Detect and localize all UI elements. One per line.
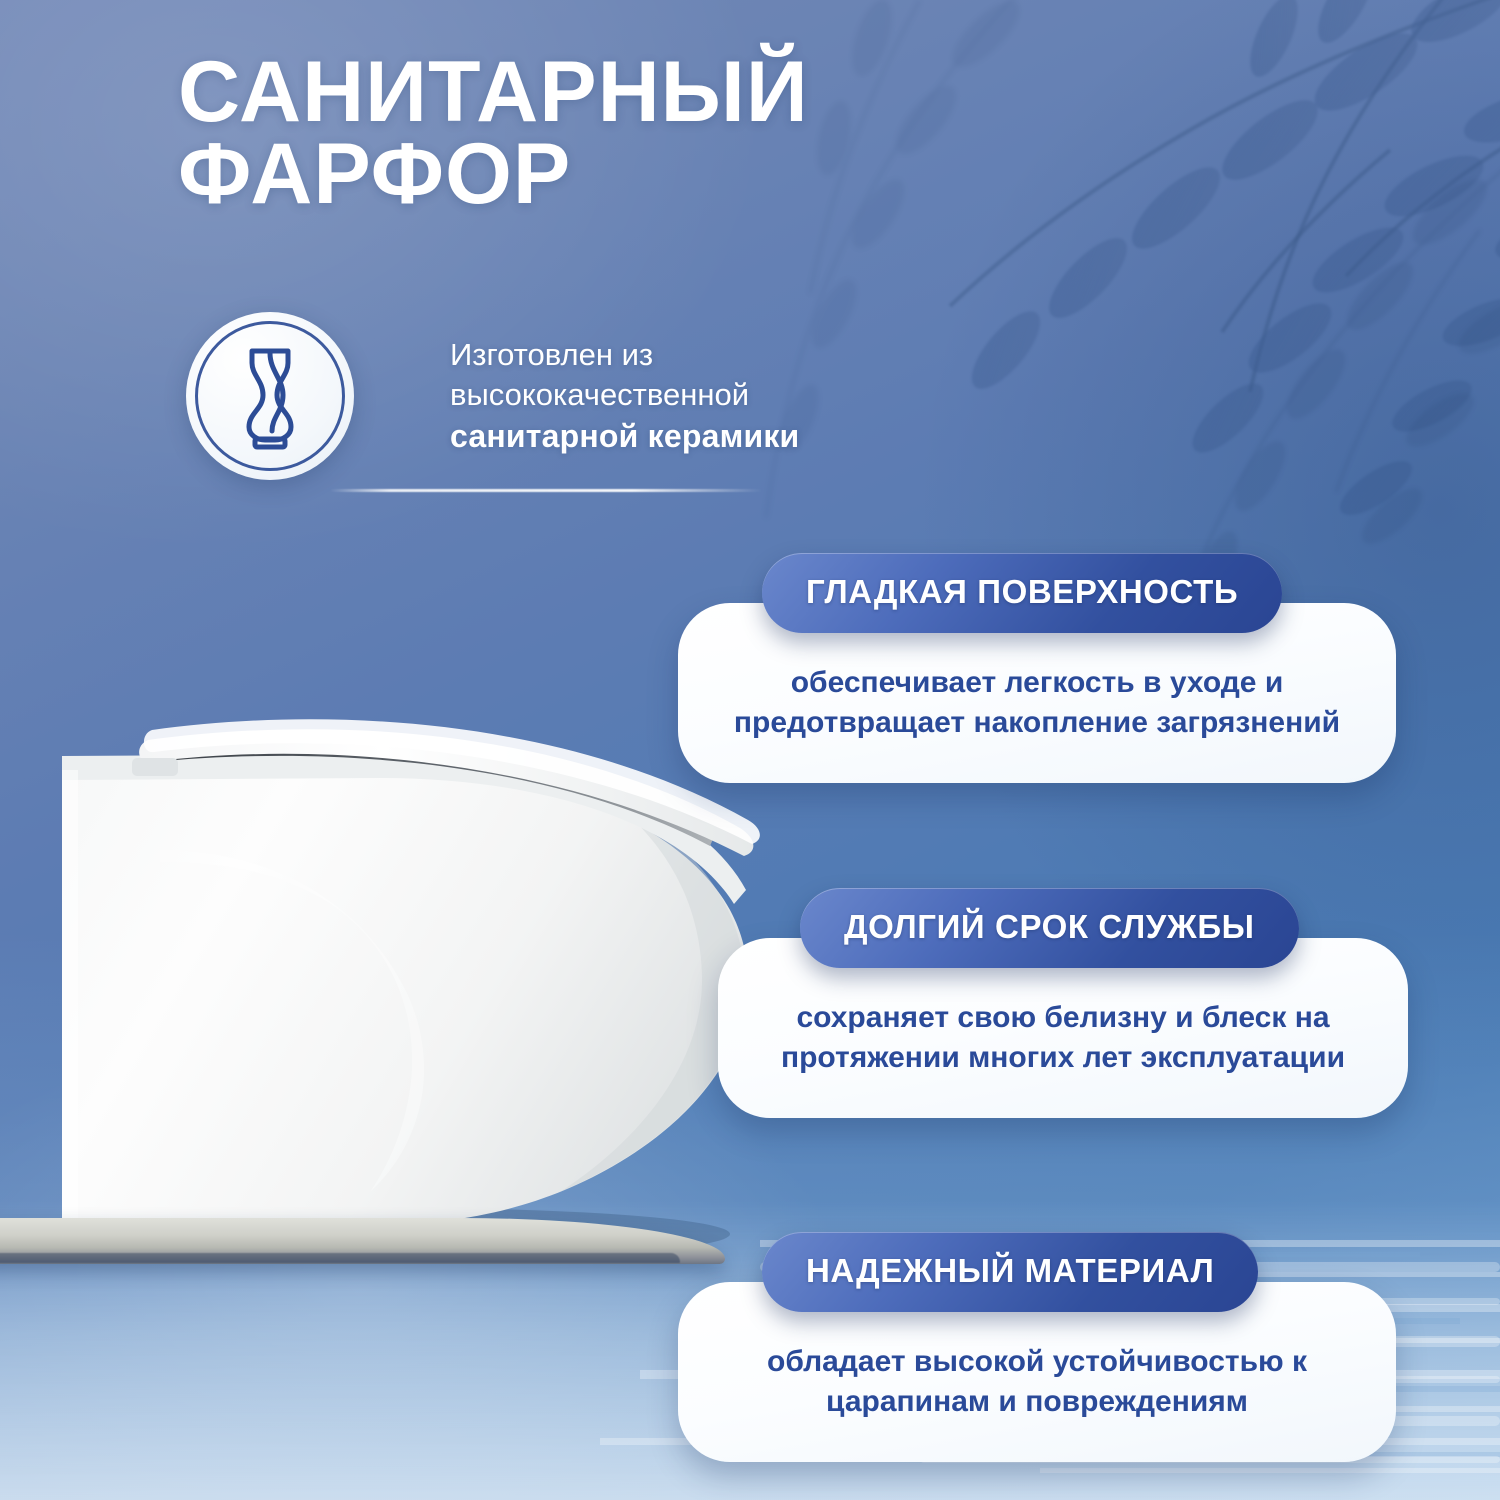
product-shelf-edge (0, 1253, 680, 1263)
title-line-2: ФАРФОР (178, 134, 1078, 216)
feature-card-title-3: НАДЕЖНЫЙ МАТЕРИАЛ (762, 1232, 1258, 1312)
vase-icon (227, 341, 313, 451)
material-badge: Изготовлен из высококачественной санитар… (186, 312, 799, 480)
vase-icon-circle (186, 312, 354, 480)
header-divider (330, 489, 762, 492)
feature-card-body-1-line-2: предотвращает накопление загрязнений (734, 706, 1340, 739)
feature-card-body-3-line-1: обладает высокой устойчивостью к (767, 1345, 1307, 1378)
material-badge-text: Изготовлен из высококачественной санитар… (450, 335, 799, 457)
infographic-canvas: САНИТАРНЫЙ ФАРФОР Изготовлен из высокока… (0, 0, 1500, 1500)
page-title: САНИТАРНЫЙ ФАРФОР (178, 52, 1078, 215)
feature-card-body-2-line-2: протяжении многих лет эксплуатации (781, 1041, 1345, 1074)
badge-text-bold: санитарной керамики (450, 416, 799, 458)
badge-text-line-1: Изготовлен из (450, 337, 653, 372)
badge-text-line-2: высококачественной (450, 377, 749, 412)
feature-card-body-2-line-1: сохраняет свою белизну и блеск на (796, 1001, 1329, 1034)
feature-card-title-1: ГЛАДКАЯ ПОВЕРХНОСТЬ (762, 553, 1282, 633)
feature-card-reliable-material[interactable]: НАДЕЖНЫЙ МАТЕРИАЛ обладает высокой устой… (678, 1232, 1396, 1462)
feature-card-smooth-surface[interactable]: ГЛАДКАЯ ПОВЕРХНОСТЬ обеспечивает легкост… (678, 553, 1396, 783)
feature-card-body-3-line-2: царапинам и повреждениям (826, 1385, 1248, 1418)
feature-card-body-1-line-1: обеспечивает легкость в уходе и (791, 666, 1284, 699)
feature-card-long-service-life[interactable]: ДОЛГИЙ СРОК СЛУЖБЫ сохраняет свою белизн… (718, 888, 1408, 1118)
feature-card-title-2: ДОЛГИЙ СРОК СЛУЖБЫ (800, 888, 1299, 968)
